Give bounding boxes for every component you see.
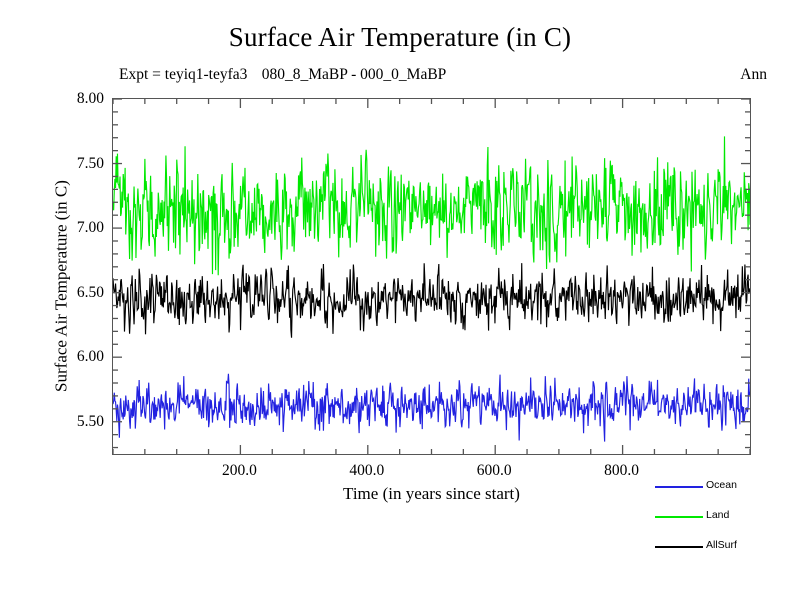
legend-label-allsurf: AllSurf bbox=[706, 539, 737, 551]
legend-item-allsurf: AllSurf bbox=[655, 537, 795, 567]
y-tick-label: 7.00 bbox=[77, 219, 104, 237]
legend: Ocean Land AllSurf bbox=[655, 477, 795, 567]
series-allsurf bbox=[113, 263, 750, 338]
averaging-period-label: Ann bbox=[740, 66, 767, 84]
legend-swatch-land bbox=[655, 516, 703, 518]
legend-label-ocean: Ocean bbox=[706, 479, 737, 491]
page-title: Surface Air Temperature (in C) bbox=[0, 22, 800, 53]
plot-area bbox=[112, 98, 751, 455]
y-tick-label: 5.50 bbox=[77, 413, 104, 431]
series-land bbox=[113, 136, 750, 275]
x-tick-label: 800.0 bbox=[604, 462, 639, 480]
plot-page: Surface Air Temperature (in C) Expt = te… bbox=[0, 0, 800, 600]
legend-item-land: Land bbox=[655, 507, 795, 537]
y-tick-label: 6.00 bbox=[77, 348, 104, 366]
legend-swatch-allsurf bbox=[655, 546, 703, 548]
x-tick-label: 600.0 bbox=[477, 462, 512, 480]
series-ocean bbox=[113, 374, 750, 442]
y-tick-label: 8.00 bbox=[77, 90, 104, 108]
y-tick-label: 7.50 bbox=[77, 155, 104, 173]
x-tick-label: 400.0 bbox=[349, 462, 384, 480]
y-axis-title: Surface Air Temperature (in C) bbox=[52, 108, 72, 465]
y-tick-label: 6.50 bbox=[77, 284, 104, 302]
legend-swatch-ocean bbox=[655, 486, 703, 488]
x-tick-label: 200.0 bbox=[222, 462, 257, 480]
legend-item-ocean: Ocean bbox=[655, 477, 795, 507]
timeseries-svg bbox=[113, 99, 750, 454]
legend-label-land: Land bbox=[706, 509, 729, 521]
run-period-label: 080_8_MaBP - 000_0_MaBP bbox=[0, 66, 800, 84]
